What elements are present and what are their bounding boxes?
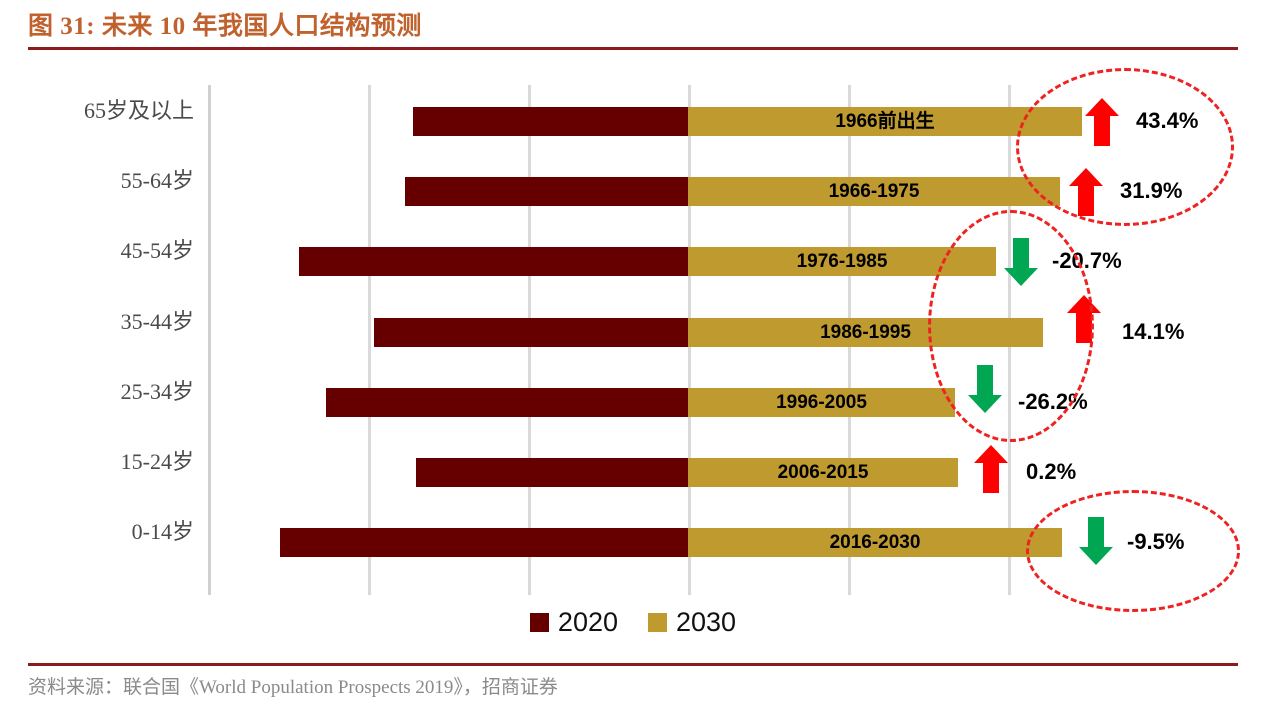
bar-2020-row-6[interactable] <box>280 528 691 557</box>
bar-2030-row-5[interactable] <box>688 458 958 487</box>
bar-2030-row-6[interactable] <box>688 528 1062 557</box>
arrow-up-icon-row-5 <box>974 445 1008 493</box>
title-divider <box>28 47 1238 50</box>
legend-label-2020: 2020 <box>558 607 618 638</box>
bar-2020-row-3[interactable] <box>374 318 691 347</box>
bar-2030-row-3[interactable] <box>688 318 1043 347</box>
bar-2020-row-1[interactable] <box>405 177 691 206</box>
chart-legend: 2020 2030 <box>0 607 1266 638</box>
category-label-25-34: 25-34岁 <box>0 374 194 406</box>
bar-2020-row-2[interactable] <box>299 247 691 276</box>
change-pct-row-0: 43.4% <box>1136 108 1198 134</box>
legend-swatch-2020-icon <box>530 613 549 632</box>
category-label-35-44: 35-44岁 <box>0 304 194 336</box>
figure-population-structure-forecast: 图 31: 未来 10 年我国人口结构预测 65岁及以上 1966前出生 43.… <box>0 0 1266 721</box>
bar-2020-row-5[interactable] <box>416 458 691 487</box>
category-label-55-64: 55-64岁 <box>0 163 194 195</box>
change-pct-row-5: 0.2% <box>1026 459 1076 485</box>
legend-swatch-2030-icon <box>648 613 667 632</box>
legend-item-2030[interactable]: 2030 <box>648 607 736 638</box>
category-label-0-14: 0-14岁 <box>0 514 194 546</box>
page-title: 图 31: 未来 10 年我国人口结构预测 <box>28 10 1238 44</box>
footer-divider <box>28 663 1238 666</box>
arrow-up-icon-row-1 <box>1069 168 1103 216</box>
bar-2020-row-4[interactable] <box>326 388 691 417</box>
change-pct-row-1: 31.9% <box>1120 178 1182 204</box>
change-pct-row-3: 14.1% <box>1122 319 1184 345</box>
bar-2030-row-1[interactable] <box>688 177 1060 206</box>
arrow-down-icon-row-6 <box>1079 517 1113 565</box>
legend-item-2020[interactable]: 2020 <box>530 607 618 638</box>
change-pct-row-2: -20.7% <box>1052 248 1122 274</box>
axis-line-center-left <box>208 85 211 595</box>
arrow-up-icon-row-0 <box>1085 98 1119 146</box>
arrow-down-icon-row-2 <box>1004 238 1038 286</box>
category-label-65-and-above: 65岁及以上 <box>0 93 194 125</box>
category-label-15-24: 15-24岁 <box>0 444 194 476</box>
bar-2030-row-2[interactable] <box>688 247 996 276</box>
figure-title-bar: 图 31: 未来 10 年我国人口结构预测 <box>28 10 1238 44</box>
category-label-45-54: 45-54岁 <box>0 233 194 265</box>
bar-2030-row-4[interactable] <box>688 388 955 417</box>
bar-2030-row-0[interactable] <box>688 107 1082 136</box>
arrow-up-icon-row-3 <box>1067 295 1101 343</box>
chart-plot-area: 65岁及以上 1966前出生 43.4% 55-64岁 1966-1975 31… <box>0 60 1266 600</box>
arrow-down-icon-row-4 <box>968 365 1002 413</box>
change-pct-row-4: -26.2% <box>1018 389 1088 415</box>
legend-label-2030: 2030 <box>676 607 736 638</box>
bar-2020-row-0[interactable] <box>413 107 691 136</box>
source-note: 资料来源：联合国《World Population Prospects 2019… <box>28 672 558 699</box>
change-pct-row-6: -9.5% <box>1127 529 1184 555</box>
gridline-2 <box>368 85 371 595</box>
